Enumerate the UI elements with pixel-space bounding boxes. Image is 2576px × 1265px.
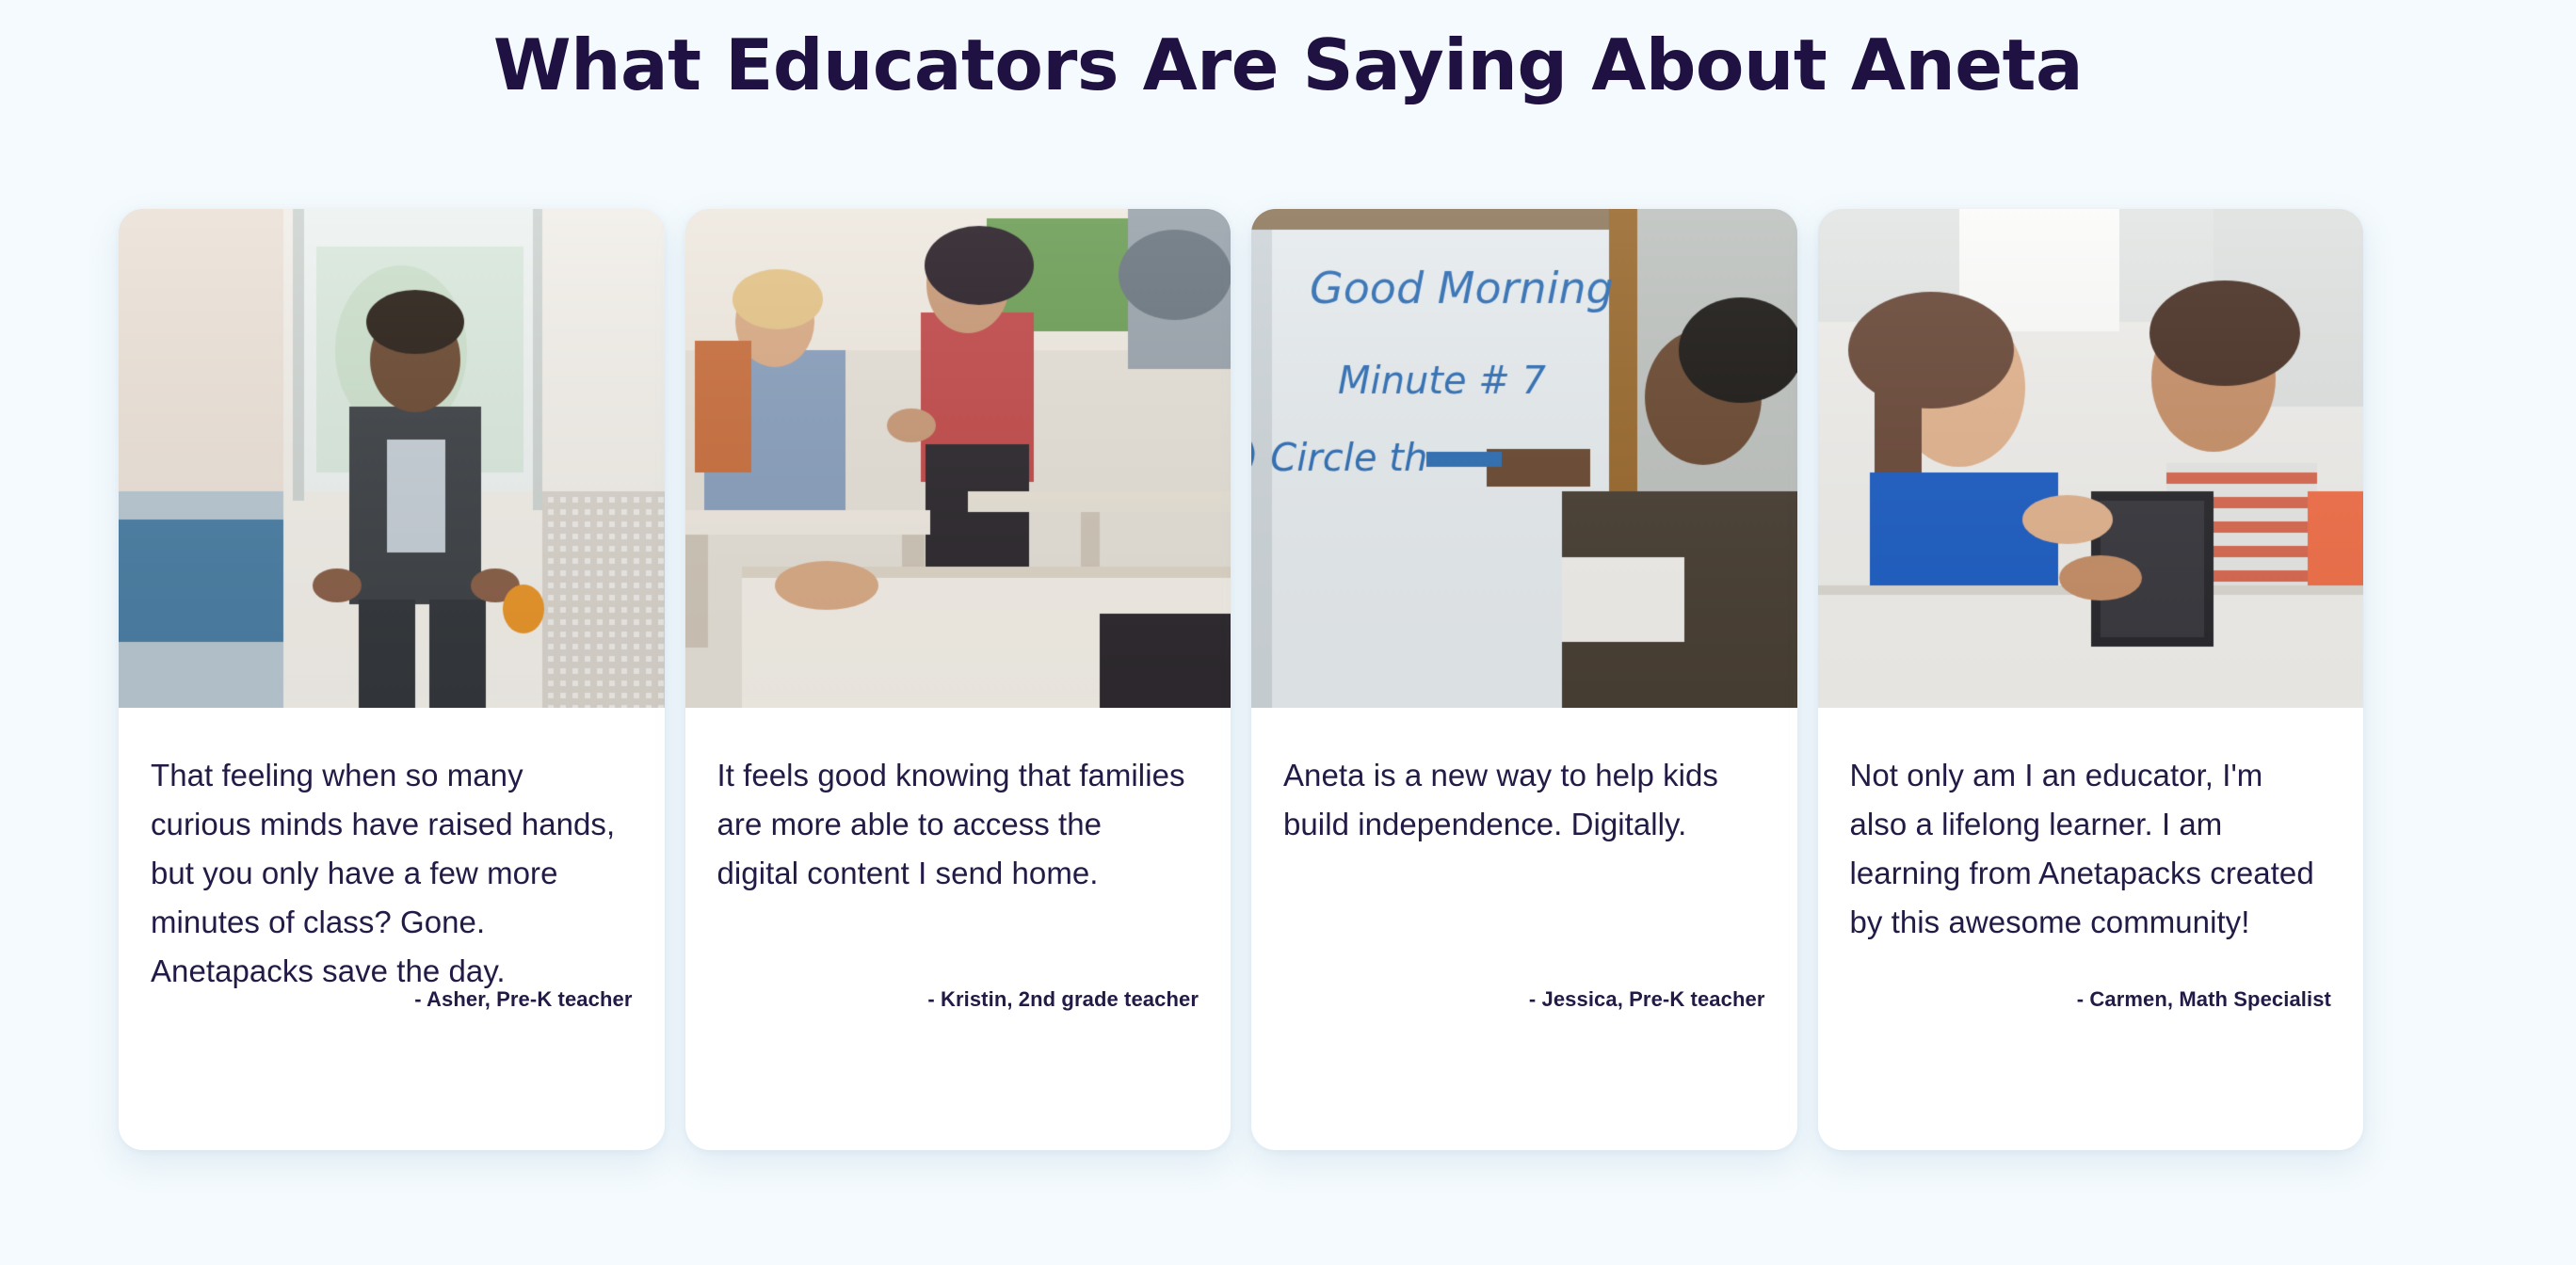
- testimonial-photo-0: [119, 209, 665, 708]
- testimonial-photo-3: [1818, 209, 2364, 708]
- testimonial-photo-2: [1251, 209, 1797, 708]
- teacher-leaning-on-desk-by-window-image: [119, 209, 665, 708]
- teacher-helping-students-at-desks-image: [685, 209, 1232, 708]
- testimonial-card-grid: That feeling when so many curious minds …: [119, 209, 2363, 1150]
- testimonial-body: Aneta is a new way to help kids build in…: [1251, 708, 1797, 1150]
- testimonial-attribution: - Jessica, Pre-K teacher: [1283, 987, 1765, 1012]
- testimonial-body: That feeling when so many curious minds …: [119, 708, 665, 1150]
- testimonials-page: What Educators Are Saying About Aneta Th…: [0, 0, 2576, 1265]
- testimonial-card[interactable]: That feeling when so many curious minds …: [119, 209, 665, 1150]
- testimonial-quote: It feels good knowing that families are …: [717, 751, 1192, 898]
- teacher-and-student-sharing-tablet-image: [1818, 209, 2364, 708]
- testimonial-card[interactable]: Aneta is a new way to help kids build in…: [1251, 209, 1797, 1150]
- testimonial-quote: Aneta is a new way to help kids build in…: [1283, 751, 1758, 849]
- testimonial-quote: That feeling when so many curious minds …: [151, 751, 625, 996]
- testimonial-attribution: - Asher, Pre-K teacher: [151, 987, 633, 1012]
- testimonial-photo-1: [685, 209, 1232, 708]
- testimonial-attribution: - Kristin, 2nd grade teacher: [717, 987, 1199, 1012]
- testimonial-card[interactable]: It feels good knowing that families are …: [685, 209, 1232, 1150]
- testimonial-attribution: - Carmen, Math Specialist: [1850, 987, 2332, 1012]
- testimonial-body: It feels good knowing that families are …: [685, 708, 1232, 1150]
- testimonial-body: Not only am I an educator, I'm also a li…: [1818, 708, 2364, 1150]
- page-title: What Educators Are Saying About Aneta: [0, 24, 2576, 105]
- testimonial-quote: Not only am I an educator, I'm also a li…: [1850, 751, 2325, 947]
- teacher-writing-on-whiteboard-image: [1251, 209, 1797, 708]
- testimonial-card[interactable]: Not only am I an educator, I'm also a li…: [1818, 209, 2364, 1150]
